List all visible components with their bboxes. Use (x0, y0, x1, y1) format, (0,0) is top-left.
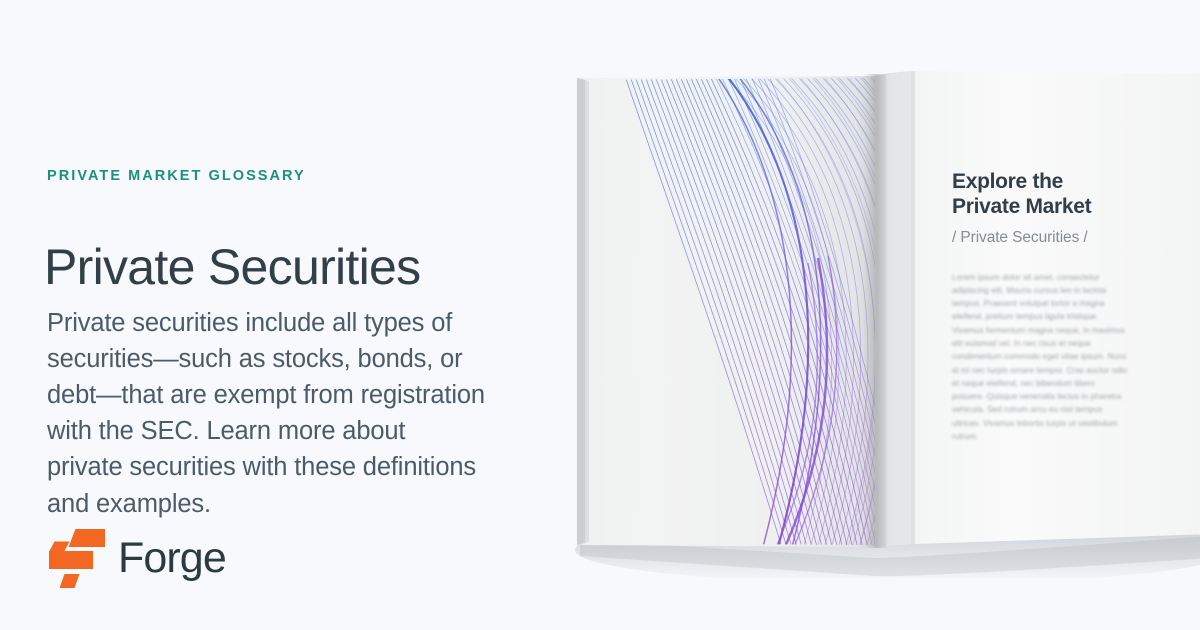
page-title: Private Securities (44, 238, 420, 297)
glossary-social-card: PRIVATE MARKET GLOSSARY Private Securiti… (0, 0, 1200, 630)
left-content-column: PRIVATE MARKET GLOSSARY Private Securiti… (47, 0, 517, 630)
eyebrow-label: PRIVATE MARKET GLOSSARY (47, 169, 306, 184)
page-description: Private securities include all types of … (47, 305, 487, 522)
book-illustration (575, 58, 1200, 578)
forge-logo[interactable]: Forge (47, 527, 226, 590)
forge-wordmark: Forge (118, 537, 226, 580)
open-book-mockup: Explore the Private Market / Private Sec… (575, 58, 1200, 578)
book-right-page (875, 71, 1200, 547)
forge-f-mark-icon (47, 527, 107, 590)
